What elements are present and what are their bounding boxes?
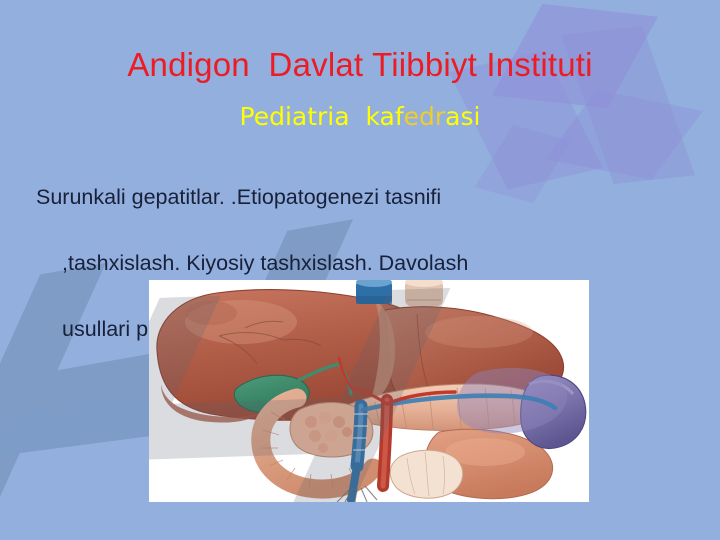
presentation-slide: Andigon Davlat Tiibbiyt Instituti Pediat… xyxy=(0,0,720,540)
body-line-1: Surunkali gepatitlar. .Etiopatogenezi ta… xyxy=(36,181,664,214)
subtitle-part-1: Pediatria kaf xyxy=(240,102,404,131)
slide-subtitle: Pediatria kafedrasi xyxy=(0,102,720,132)
slide-title: Andigon Davlat Tiibbiyt Instituti xyxy=(0,45,720,85)
jejunal-loop xyxy=(390,450,463,498)
subtitle-part-3: asi xyxy=(445,102,480,131)
body-line-2: ,tashxislash. Kiyosiy tashxislash. Davol… xyxy=(36,247,664,280)
liver-left-highlight xyxy=(425,316,533,348)
subtitle-part-2: edr xyxy=(404,102,446,131)
liver-pancreas-spleen-illustration xyxy=(149,280,589,502)
anatomy-figure xyxy=(149,280,589,502)
